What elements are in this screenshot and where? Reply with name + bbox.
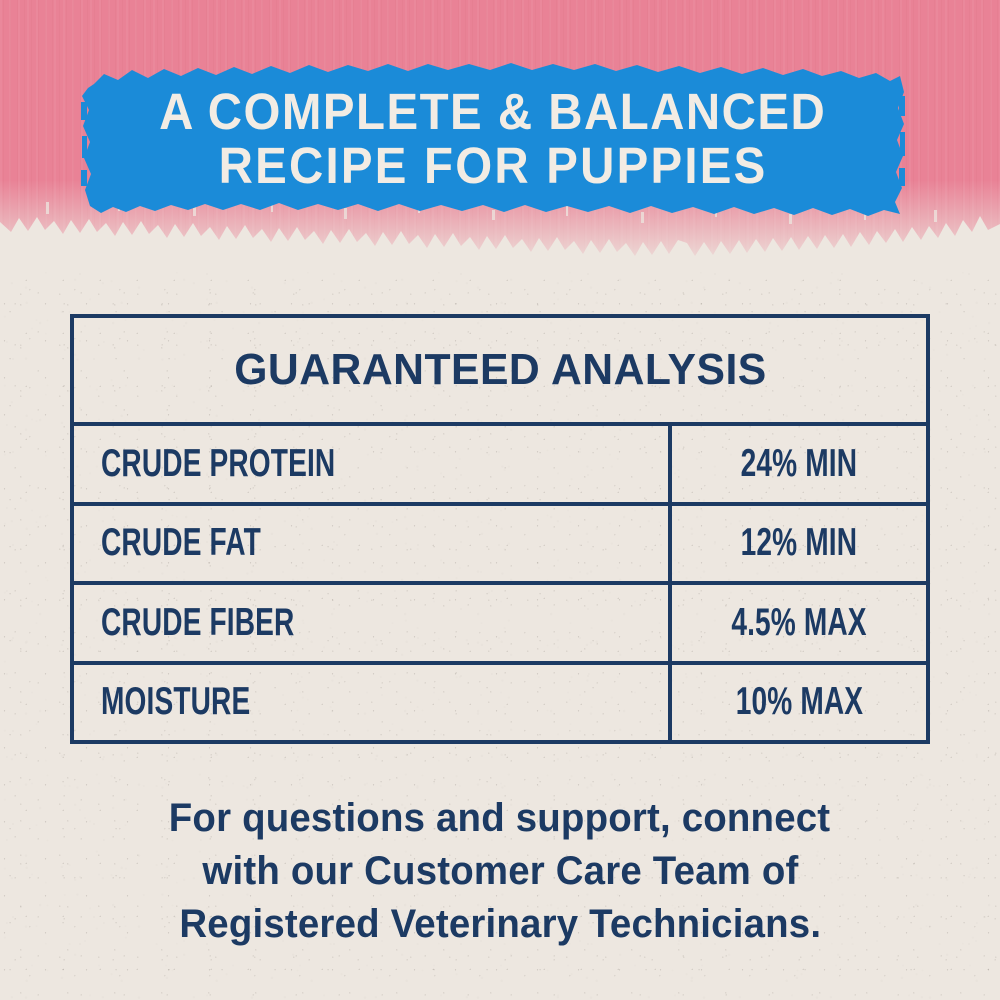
nutrient-label: MOISTURE bbox=[101, 680, 250, 724]
blue-brush-banner: A COMPLETE & BALANCED RECIPE FOR PUPPIES bbox=[80, 58, 906, 220]
footer-line-2: with our Customer Care Team of bbox=[202, 845, 798, 897]
nutrient-label-cell: CRUDE FAT bbox=[74, 506, 672, 582]
table-title: GUARANTEED ANALYSIS bbox=[234, 345, 767, 395]
nutrient-label: CRUDE FAT bbox=[101, 521, 261, 565]
guaranteed-analysis-table: GUARANTEED ANALYSIS CRUDE PROTEIN 24% MI… bbox=[70, 314, 930, 744]
table-header-row: GUARANTEED ANALYSIS bbox=[74, 318, 926, 426]
nutrient-label: CRUDE FIBER bbox=[101, 601, 294, 645]
nutrient-label: CRUDE PROTEIN bbox=[101, 442, 335, 486]
table-row: MOISTURE 10% MAX bbox=[74, 665, 926, 741]
nutrient-value: 24% MIN bbox=[741, 442, 857, 486]
nutrient-label-cell: MOISTURE bbox=[74, 665, 672, 741]
pet-food-label-poster: A COMPLETE & BALANCED RECIPE FOR PUPPIES… bbox=[0, 0, 1000, 1000]
nutrient-label-cell: CRUDE FIBER bbox=[74, 585, 672, 661]
nutrient-value: 12% MIN bbox=[741, 521, 857, 565]
table-row: CRUDE FAT 12% MIN bbox=[74, 506, 926, 586]
customer-care-footer: For questions and support, connect with … bbox=[0, 792, 1000, 950]
table-row: CRUDE PROTEIN 24% MIN bbox=[74, 426, 926, 506]
nutrient-value-cell: 12% MIN bbox=[672, 506, 926, 582]
nutrient-value: 4.5% MAX bbox=[731, 601, 866, 645]
nutrient-value-cell: 24% MIN bbox=[672, 426, 926, 502]
footer-line-3: Registered Veterinary Technicians. bbox=[179, 898, 821, 950]
nutrient-value-cell: 4.5% MAX bbox=[672, 585, 926, 661]
nutrient-value-cell: 10% MAX bbox=[672, 665, 926, 741]
blue-brush-stroke-shape bbox=[80, 58, 906, 220]
footer-line-1: For questions and support, connect bbox=[169, 792, 830, 844]
nutrient-label-cell: CRUDE PROTEIN bbox=[74, 426, 672, 502]
nutrient-value: 10% MAX bbox=[735, 680, 862, 724]
table-row: CRUDE FIBER 4.5% MAX bbox=[74, 585, 926, 665]
table-body: CRUDE PROTEIN 24% MIN CRUDE FAT 12% MIN … bbox=[74, 426, 926, 740]
